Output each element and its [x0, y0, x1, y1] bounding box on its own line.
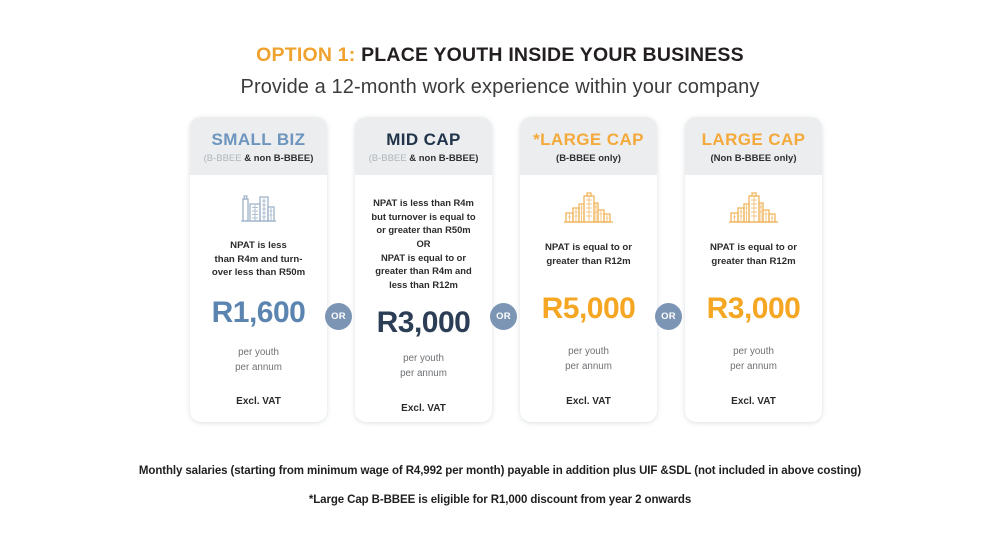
- card-title: SMALL BIZ: [212, 131, 306, 148]
- card-subtitle-dark: & non B-BBEE): [244, 153, 313, 164]
- city-skyline-icon: [728, 191, 780, 225]
- or-connector-2: OR: [490, 303, 517, 330]
- card-title: *LARGE CAP: [533, 131, 644, 148]
- desc-line: less than R12m: [371, 278, 475, 292]
- desc-line: or greater than R50m: [371, 223, 475, 237]
- card-price: R1,600: [212, 298, 306, 328]
- page-heading: OPTION 1: PLACE YOUTH INSIDE YOUR BUSINE…: [0, 44, 1000, 99]
- card-vat-note: Excl. VAT: [566, 396, 611, 407]
- desc-line: NPAT is less than R4m: [371, 196, 475, 210]
- card-body: NPAT is equal to or greater than R12m R3…: [685, 175, 822, 422]
- card-body: NPAT is equal to or greater than R12m R5…: [520, 175, 657, 422]
- per-line: per annum: [400, 367, 447, 382]
- card-description: NPAT is less than R4m but turnover is eq…: [371, 196, 475, 291]
- card-price: R3,000: [377, 308, 471, 338]
- card-subtitle-dark: & non B-BBEE): [409, 153, 478, 164]
- card-per-label: per youth per annum: [565, 345, 612, 374]
- desc-line: OR: [371, 237, 475, 251]
- desc-line: but turnover is equal to: [371, 210, 475, 224]
- desc-line: NPAT is less: [212, 239, 305, 253]
- page-subtitle: Provide a 12-month work experience withi…: [0, 76, 1000, 99]
- card-subtitle: (B-BBEE only): [556, 154, 621, 164]
- card-vat-note: Excl. VAT: [731, 396, 776, 407]
- per-line: per annum: [235, 361, 282, 376]
- card-subtitle-light: (B-BBEE: [204, 153, 242, 164]
- card-subtitle-dark: (B-BBEE only): [556, 153, 621, 164]
- per-line: per youth: [235, 346, 282, 361]
- card-price: R3,000: [707, 294, 801, 324]
- option-label: OPTION 1:: [256, 44, 355, 66]
- or-connector-3: OR: [655, 303, 682, 330]
- card-per-label: per youth per annum: [730, 345, 777, 374]
- per-line: per annum: [730, 360, 777, 375]
- footer-notes: Monthly salaries (starting from minimum …: [0, 465, 1000, 506]
- option-title: PLACE YOUTH INSIDE YOUR BUSINESS: [361, 44, 744, 66]
- card-subtitle-dark: (Non B-BBEE only): [710, 153, 796, 164]
- desc-line: greater than R4m and: [371, 264, 475, 278]
- card-body: NPAT is less than R4m but turnover is eq…: [355, 175, 492, 422]
- pricing-card-large-cap-bbbee[interactable]: *LARGE CAP (B-BBEE only): [520, 117, 657, 422]
- card-header: MID CAP (B-BBEE & non B-BBEE): [355, 117, 492, 175]
- desc-line: greater than R12m: [545, 255, 632, 269]
- footer-note-salaries: Monthly salaries (starting from minimum …: [0, 465, 1000, 477]
- page-title: OPTION 1: PLACE YOUTH INSIDE YOUR BUSINE…: [0, 44, 1000, 67]
- card-subtitle-light: (B-BBEE: [369, 153, 407, 164]
- card-subtitle: (Non B-BBEE only): [710, 154, 796, 164]
- card-per-label: per youth per annum: [400, 352, 447, 381]
- footer-note-discount: *Large Cap B-BBEE is eligible for R1,000…: [0, 494, 1000, 506]
- desc-line: than R4m and turn-: [212, 253, 305, 267]
- card-description: NPAT is equal to or greater than R12m: [710, 241, 797, 268]
- per-line: per youth: [730, 345, 777, 360]
- desc-line: greater than R12m: [710, 255, 797, 269]
- card-subtitle: (B-BBEE & non B-BBEE): [369, 154, 479, 164]
- pricing-cards-row: SMALL BIZ (B-BBEE & non B-BBEE): [190, 117, 822, 422]
- card-description: NPAT is equal to or greater than R12m: [545, 241, 632, 268]
- card-vat-note: Excl. VAT: [236, 396, 281, 407]
- card-per-label: per youth per annum: [235, 346, 282, 375]
- pricing-card-small-biz[interactable]: SMALL BIZ (B-BBEE & non B-BBEE): [190, 117, 327, 422]
- pricing-card-mid-cap[interactable]: MID CAP (B-BBEE & non B-BBEE) NPAT is le…: [355, 117, 492, 422]
- desc-line: over less than R50m: [212, 266, 305, 280]
- per-line: per youth: [565, 345, 612, 360]
- card-price: R5,000: [542, 294, 636, 324]
- or-connector-1: OR: [325, 303, 352, 330]
- card-subtitle: (B-BBEE & non B-BBEE): [204, 154, 314, 164]
- card-body: NPAT is less than R4m and turn- over les…: [190, 175, 327, 422]
- per-line: per annum: [565, 360, 612, 375]
- card-vat-note: Excl. VAT: [401, 403, 446, 414]
- buildings-icon: [239, 191, 279, 225]
- desc-line: NPAT is equal to or: [545, 241, 632, 255]
- card-header: *LARGE CAP (B-BBEE only): [520, 117, 657, 175]
- card-header: SMALL BIZ (B-BBEE & non B-BBEE): [190, 117, 327, 175]
- card-header: LARGE CAP (Non B-BBEE only): [685, 117, 822, 175]
- desc-line: NPAT is equal to or: [371, 251, 475, 265]
- card-description: NPAT is less than R4m and turn- over les…: [212, 239, 305, 280]
- per-line: per youth: [400, 352, 447, 367]
- desc-line: NPAT is equal to or: [710, 241, 797, 255]
- card-title: LARGE CAP: [702, 131, 806, 148]
- card-title: MID CAP: [386, 131, 461, 148]
- pricing-card-large-cap-non-bbbee[interactable]: LARGE CAP (Non B-BBEE only): [685, 117, 822, 422]
- city-skyline-icon: [563, 191, 615, 225]
